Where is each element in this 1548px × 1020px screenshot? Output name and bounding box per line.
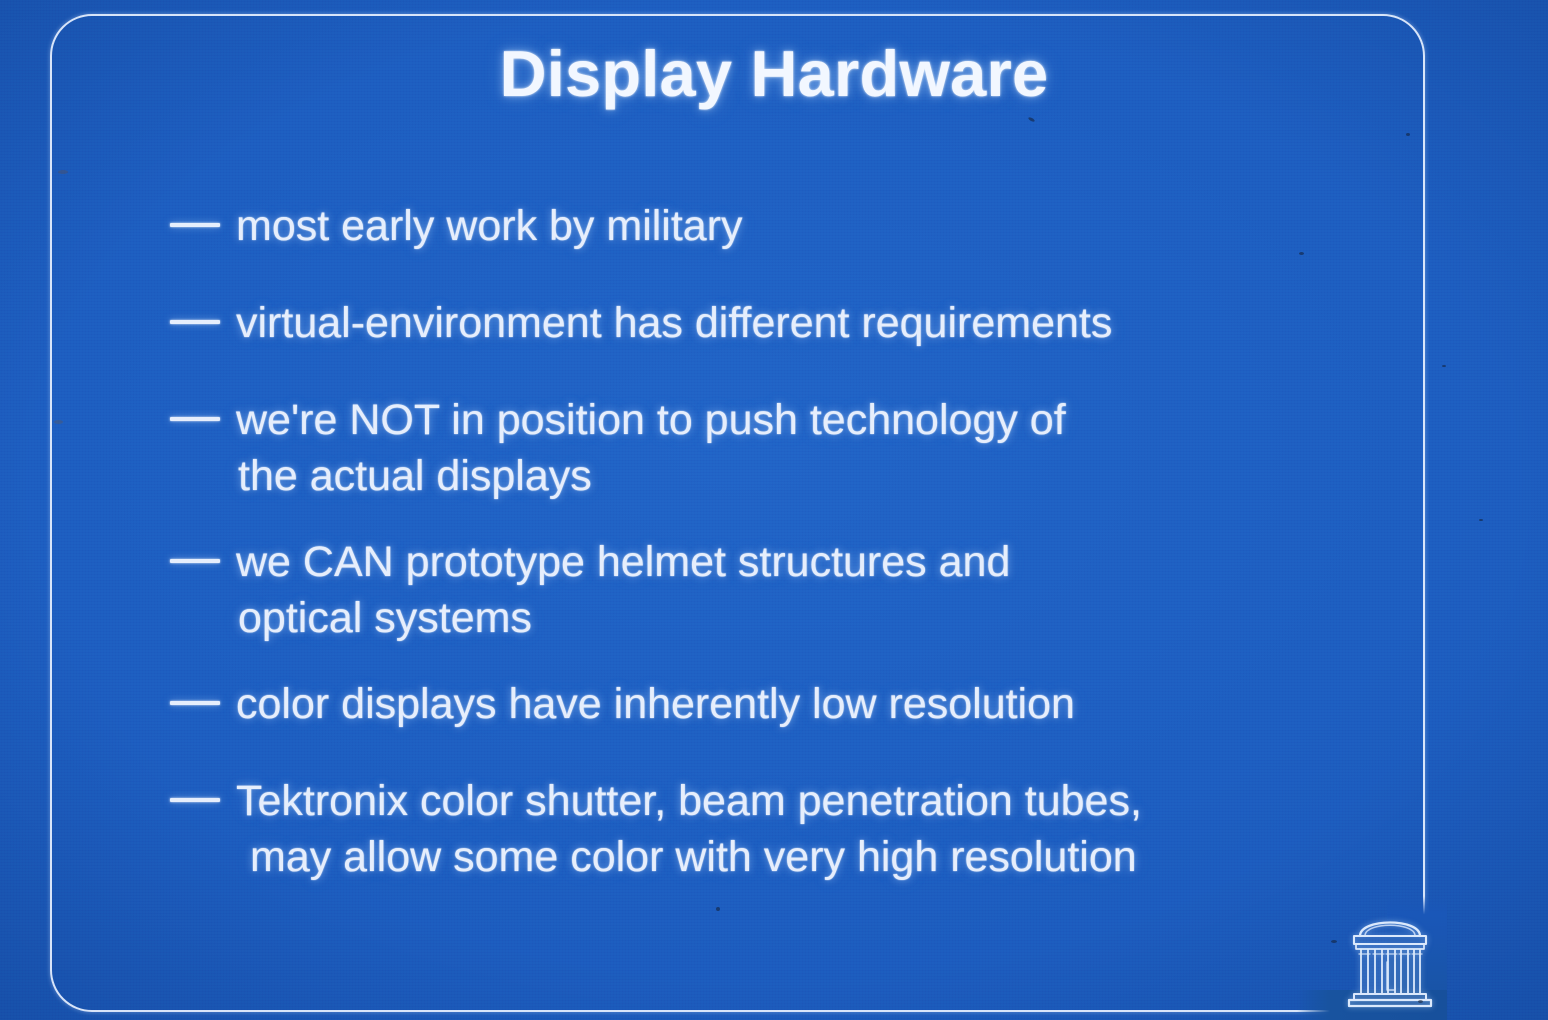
list-item: we CAN prototype helmet structures and o… xyxy=(168,534,1348,646)
list-item: color displays have inherently low resol… xyxy=(168,676,1348,732)
list-item: most early work by military xyxy=(168,198,1348,254)
list-item: virtual-environment has different requir… xyxy=(168,295,1348,351)
bullet-text: color displays have inherently low resol… xyxy=(168,676,1348,732)
list-item: we're NOT in position to push technology… xyxy=(168,392,1348,504)
bullet-text: virtual-environment has different requir… xyxy=(168,295,1348,351)
bullet-text: we CAN prototype helmet structures and xyxy=(168,534,1348,590)
unc-old-well-rotunda-logo xyxy=(1334,902,1446,1014)
bullet-dash-icon xyxy=(170,559,220,563)
bullet-dash-icon xyxy=(170,798,220,802)
bullet-text-continuation: optical systems xyxy=(168,590,1348,646)
bullet-text-continuation: the actual displays xyxy=(168,448,1348,504)
bullet-text: Tektronix color shutter, beam penetratio… xyxy=(168,773,1348,829)
presentation-slide: Display Hardware most early work by mili… xyxy=(0,0,1548,1020)
bullet-dash-icon xyxy=(170,223,220,227)
bullet-text: most early work by military xyxy=(168,198,1348,254)
list-item: Tektronix color shutter, beam penetratio… xyxy=(168,773,1348,885)
bullet-dash-icon xyxy=(170,417,220,421)
bullet-dash-icon xyxy=(170,320,220,324)
slide-content: Display Hardware most early work by mili… xyxy=(0,0,1548,1020)
bullet-text-continuation: may allow some color with very high reso… xyxy=(168,829,1348,885)
bullet-list: most early work by military virtual-envi… xyxy=(168,198,1348,885)
bullet-text: we're NOT in position to push technology… xyxy=(168,392,1348,448)
bullet-dash-icon xyxy=(170,701,220,705)
page-title: Display Hardware xyxy=(0,36,1548,111)
